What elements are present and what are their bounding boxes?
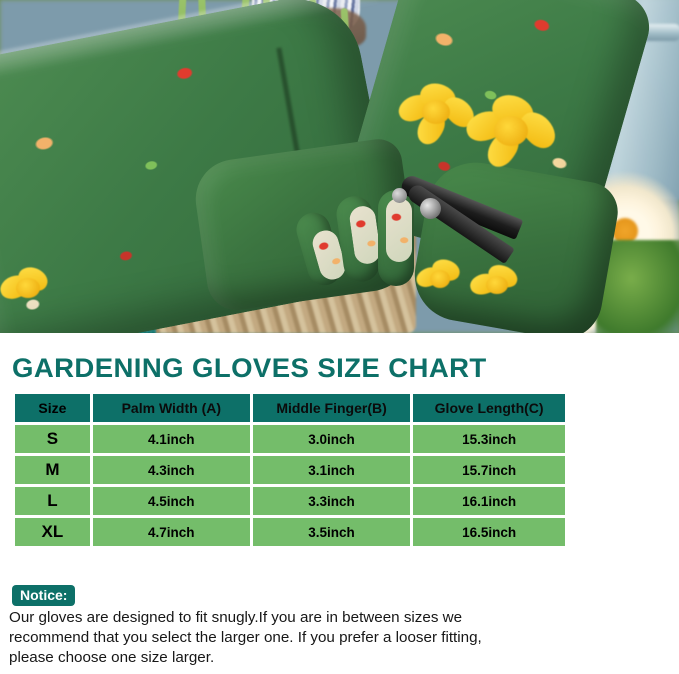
cell-palm-width: 4.5inch: [93, 487, 250, 515]
column-header-palm: Palm Width (A): [93, 394, 250, 422]
cell-middle-finger: 3.0inch: [253, 425, 410, 453]
cell-size: L: [15, 487, 90, 515]
cell-glove-length: 15.7inch: [413, 456, 565, 484]
size-chart-page: GARDENING GLOVES SIZE CHART Size Palm Wi…: [0, 0, 679, 674]
notice-badge: Notice:: [12, 585, 75, 606]
product-photo: [0, 0, 679, 333]
cell-glove-length: 16.1inch: [413, 487, 565, 515]
column-header-length: Glove Length(C): [413, 394, 565, 422]
pruning-shears-pivot: [420, 198, 441, 219]
glove-finger-patch-3: [386, 198, 412, 262]
cell-size: S: [15, 425, 90, 453]
cell-middle-finger: 3.1inch: [253, 456, 410, 484]
column-header-finger: Middle Finger(B): [253, 394, 410, 422]
cell-size: XL: [15, 518, 90, 546]
cell-size: M: [15, 456, 90, 484]
glove-hand-right: [408, 155, 623, 333]
pruning-shears-rivet: [392, 188, 407, 203]
table-row: XL 4.7inch 3.5inch 16.5inch: [15, 518, 565, 546]
size-chart-section: GARDENING GLOVES SIZE CHART Size Palm Wi…: [0, 333, 679, 674]
cell-palm-width: 4.3inch: [93, 456, 250, 484]
column-header-size: Size: [15, 394, 90, 422]
table-row: L 4.5inch 3.3inch 16.1inch: [15, 487, 565, 515]
page-title: GARDENING GLOVES SIZE CHART: [12, 353, 487, 384]
cell-palm-width: 4.7inch: [93, 518, 250, 546]
size-table: Size Palm Width (A) Middle Finger(B) Glo…: [12, 391, 568, 549]
cell-middle-finger: 3.3inch: [253, 487, 410, 515]
cell-glove-length: 15.3inch: [413, 425, 565, 453]
table-row: S 4.1inch 3.0inch 15.3inch: [15, 425, 565, 453]
cell-middle-finger: 3.5inch: [253, 518, 410, 546]
cell-palm-width: 4.1inch: [93, 425, 250, 453]
notice-text: Our gloves are designed to fit snugly.If…: [9, 608, 509, 668]
table-header-row: Size Palm Width (A) Middle Finger(B) Glo…: [15, 394, 565, 422]
table-row: M 4.3inch 3.1inch 15.7inch: [15, 456, 565, 484]
cell-glove-length: 16.5inch: [413, 518, 565, 546]
